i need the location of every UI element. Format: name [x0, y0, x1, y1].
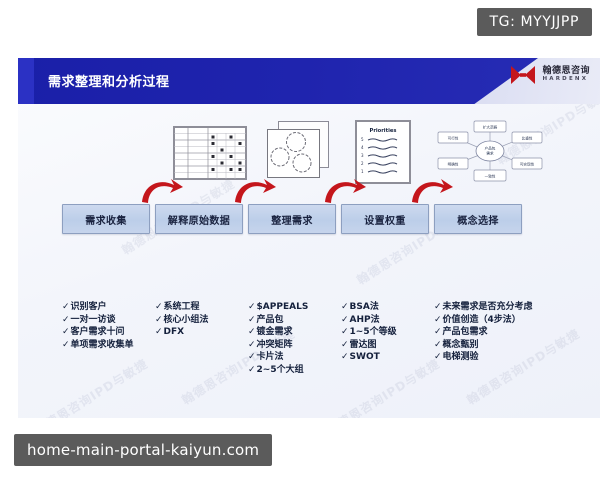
list-item: ✓1~5个等级 [341, 326, 397, 339]
list-item: ✓未来需求是否充分考虑 [434, 301, 533, 314]
art-priorities-doc: Priorities 543 21 [355, 120, 411, 184]
list-item: ✓价值创造（4步法） [434, 314, 533, 327]
check-icon: ✓ [434, 302, 442, 312]
list-item-label: 单项需求收集单 [71, 340, 134, 350]
page-title: 需求整理和分析过程 [48, 71, 170, 90]
list-item-label: BSA法 [350, 302, 379, 312]
header-accent-bar [18, 58, 34, 104]
list-item-label: 产品包需求 [443, 327, 488, 337]
list-item: ✓单项需求收集单 [62, 339, 134, 352]
slide-canvas: 翰德恩咨询IPD与敏捷 翰德恩咨询IPD与敏捷 翰德恩咨询IPD与敏捷 翰德恩咨… [18, 58, 600, 418]
svg-text:扩大范畴: 扩大范畴 [483, 125, 498, 130]
brand-text: 翰德恩咨询 HARDENX [542, 67, 590, 83]
list-item-label: 一对一访谈 [71, 315, 116, 325]
list-item-label: DFX [164, 327, 185, 337]
list-item-label: 卡片法 [257, 352, 284, 362]
list-item: ✓识别客户 [62, 301, 134, 314]
bullet-list-4: ✓BSA法 ✓AHP法 ✓1~5个等级 ✓雷达图 ✓SWOT [341, 301, 397, 364]
hardenx-mark-icon [510, 65, 536, 85]
svg-text:Priorities: Priorities [370, 128, 397, 134]
stage-box-1[interactable]: 需求收集 [62, 204, 150, 234]
check-icon: ✓ [155, 327, 163, 337]
list-item: ✓产品包 [248, 314, 308, 327]
check-icon: ✓ [248, 327, 256, 337]
check-icon: ✓ [248, 365, 256, 375]
check-icon: ✓ [62, 327, 70, 337]
stage-box-5[interactable]: 概念选择 [434, 204, 522, 234]
list-item-label: 产品包 [257, 315, 284, 325]
bullet-list-1: ✓识别客户 ✓一对一访谈 ✓客户需求十问 ✓单项需求收集单 [62, 301, 134, 351]
svg-text:可实现性: 可实现性 [520, 162, 535, 167]
svg-text:需求: 需求 [486, 151, 494, 156]
list-item-label: 电梯测验 [443, 352, 479, 362]
site-url-badge: home-main-portal-kaiyun.com [14, 434, 272, 466]
list-item: ✓系统工程 [155, 301, 209, 314]
art-concept-mindmap: 产品包 需求 扩大范畴 一致性 可行性 明确性 比重性 可实现性 [436, 116, 544, 186]
check-icon: ✓ [341, 352, 349, 362]
list-item: ✓一对一访谈 [62, 314, 134, 327]
list-item-label: 2~5个大组 [257, 365, 304, 375]
svg-text:一致性: 一致性 [485, 174, 496, 179]
affinity-cards-icon [266, 121, 332, 183]
list-item: ✓$APPEALS [248, 301, 308, 314]
art-requirements-matrix [173, 126, 247, 180]
svg-text:比重性: 比重性 [522, 136, 533, 141]
check-icon: ✓ [341, 340, 349, 350]
stage-label: 解释原始数据 [168, 212, 230, 227]
list-item: ✓产品包需求 [434, 326, 533, 339]
mindmap-icon: 产品包 需求 扩大范畴 一致性 可行性 明确性 比重性 可实现性 [436, 116, 544, 186]
list-item: ✓概念甄别 [434, 339, 533, 352]
check-icon: ✓ [248, 302, 256, 312]
list-item-label: 客户需求十问 [71, 327, 125, 337]
check-icon: ✓ [434, 340, 442, 350]
list-item: ✓SWOT [341, 351, 397, 364]
list-item: ✓AHP法 [341, 314, 397, 327]
stage-label: 需求收集 [85, 212, 127, 227]
list-item-label: 识别客户 [71, 302, 107, 312]
check-icon: ✓ [248, 315, 256, 325]
stage-box-4[interactable]: 设置权重 [341, 204, 429, 234]
svg-text:明确性: 明确性 [448, 162, 459, 167]
check-icon: ✓ [248, 352, 256, 362]
list-item: ✓镀金需求 [248, 326, 308, 339]
brand-name-cn: 翰德恩咨询 [542, 67, 590, 76]
check-icon: ✓ [62, 340, 70, 350]
list-item-label: 未来需求是否充分考虑 [443, 302, 533, 312]
list-item-label: AHP法 [350, 315, 380, 325]
list-item-label: SWOT [350, 352, 380, 362]
list-item: ✓雷达图 [341, 339, 397, 352]
telegram-watermark-badge: TG: MYYJJPP [477, 8, 593, 36]
bullet-list-3: ✓$APPEALS ✓产品包 ✓镀金需求 ✓冲突矩阵 ✓卡片法 ✓2~5个大组 [248, 301, 308, 377]
list-item-label: 概念甄别 [443, 340, 479, 350]
list-item-label: 系统工程 [164, 302, 200, 312]
bullet-list-5: ✓未来需求是否充分考虑 ✓价值创造（4步法） ✓产品包需求 ✓概念甄别 ✓电梯测… [434, 301, 533, 364]
matrix-grid-icon [174, 127, 246, 179]
list-item-label: $APPEALS [257, 302, 309, 312]
stage-box-2[interactable]: 解释原始数据 [155, 204, 243, 234]
list-item: ✓核心小组法 [155, 314, 209, 327]
list-item-label: 冲突矩阵 [257, 340, 293, 350]
art-affinity-cards [266, 121, 332, 183]
check-icon: ✓ [434, 315, 442, 325]
check-icon: ✓ [341, 327, 349, 337]
stage-label: 整理需求 [271, 212, 313, 227]
check-icon: ✓ [434, 352, 442, 362]
watermark: 翰德恩咨询IPD与敏捷 [323, 355, 442, 418]
check-icon: ✓ [341, 302, 349, 312]
check-icon: ✓ [248, 340, 256, 350]
stage-box-3[interactable]: 整理需求 [248, 204, 336, 234]
check-icon: ✓ [341, 315, 349, 325]
list-item: ✓DFX [155, 326, 209, 339]
svg-text:可行性: 可行性 [448, 136, 459, 141]
brand-name-en: HARDENX [542, 77, 590, 83]
stage-label: 设置权重 [364, 212, 406, 227]
check-icon: ✓ [62, 315, 70, 325]
bullet-list-2: ✓系统工程 ✓核心小组法 ✓DFX [155, 301, 209, 339]
stage-label: 概念选择 [457, 212, 499, 227]
list-item-label: 雷达图 [350, 340, 377, 350]
check-icon: ✓ [155, 315, 163, 325]
list-item: ✓卡片法 [248, 351, 308, 364]
check-icon: ✓ [434, 327, 442, 337]
list-item-label: 核心小组法 [164, 315, 209, 325]
list-item: ✓电梯测验 [434, 351, 533, 364]
priorities-list-icon: Priorities 543 21 [356, 121, 410, 183]
list-item-label: 镀金需求 [257, 327, 293, 337]
list-item-label: 价值创造（4步法） [443, 315, 521, 325]
screenshot-root: 翰德恩咨询IPD与敏捷 翰德恩咨询IPD与敏捷 翰德恩咨询IPD与敏捷 翰德恩咨… [0, 0, 600, 480]
list-item: ✓2~5个大组 [248, 364, 308, 377]
svg-text:产品包: 产品包 [485, 146, 496, 151]
check-icon: ✓ [62, 302, 70, 312]
watermark: 翰德恩咨询IPD与敏捷 [31, 355, 150, 418]
list-item-label: 1~5个等级 [350, 327, 397, 337]
brand-logo: 翰德恩咨询 HARDENX [510, 65, 590, 85]
list-item: ✓BSA法 [341, 301, 397, 314]
list-item: ✓客户需求十问 [62, 326, 134, 339]
list-item: ✓冲突矩阵 [248, 339, 308, 352]
slide-header: 需求整理和分析过程 翰德恩咨询 HARDENX [18, 58, 600, 104]
check-icon: ✓ [155, 302, 163, 312]
